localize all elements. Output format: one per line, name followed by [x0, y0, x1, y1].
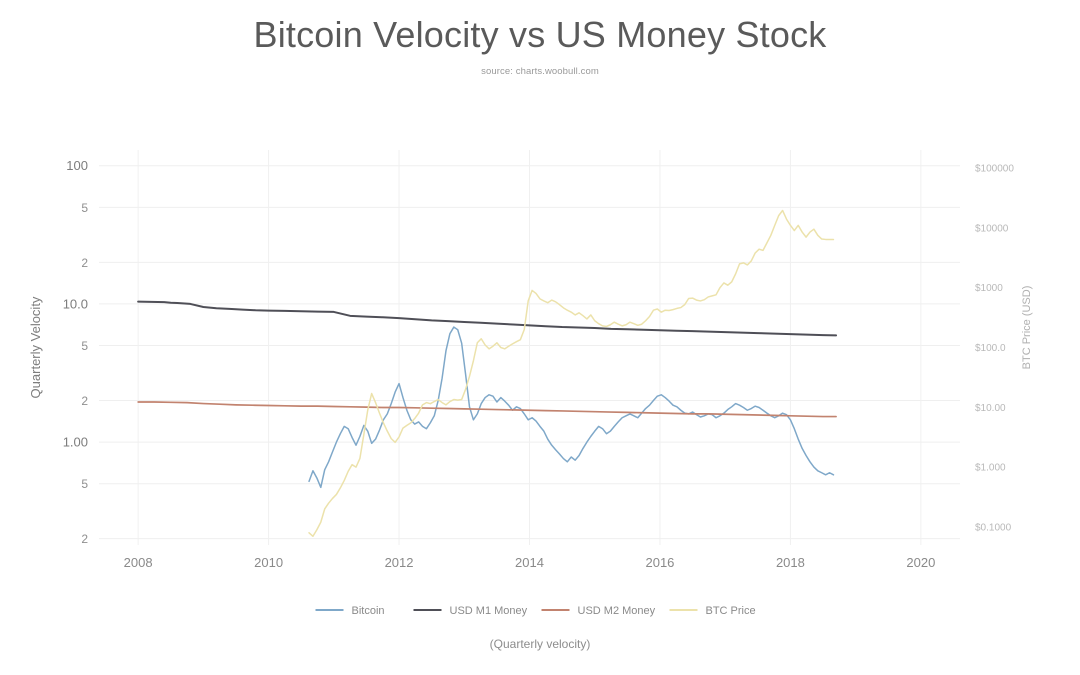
y-axis-tick-label: 5	[81, 339, 88, 353]
y-axis-tick-label: 10.0	[63, 296, 88, 311]
y-axis-title: Quarterly Velocity	[28, 296, 43, 398]
y-axis-tick-label: 2	[81, 532, 88, 546]
series-line-usd-m1-money	[138, 302, 836, 336]
legend-label: Bitcoin	[352, 605, 385, 617]
y2-axis-tick-label: $10.00	[975, 403, 1006, 414]
legend-label: BTC Price	[706, 605, 756, 617]
series-line-btc-price	[309, 210, 833, 536]
chart-plot-area: 1005210.0521.0052 $100000$10000$1000$100…	[0, 0, 1080, 675]
x-axis-tick-label: 2018	[776, 555, 805, 570]
x-axis-tick-label: 2012	[385, 555, 414, 570]
y-axis-tick-label: 5	[81, 201, 88, 215]
chart-caption: (Quarterly velocity)	[0, 637, 1080, 651]
y2-axis-tick-label: $1000	[975, 283, 1003, 294]
y2-axis-tick-label: $10000	[975, 223, 1009, 234]
legend-label: USD M1 Money	[450, 605, 528, 617]
x-axis-ticks-group: 2008201020122014201620182020	[124, 555, 936, 570]
x-axis-tick-label: 2010	[254, 555, 283, 570]
legend-label: USD M2 Money	[578, 605, 656, 617]
gridlines-group	[99, 150, 960, 545]
x-axis-tick-label: 2016	[645, 555, 674, 570]
chart-container: Bitcoin Velocity vs US Money Stock sourc…	[0, 0, 1080, 675]
series-line-usd-m2-money	[138, 402, 836, 417]
x-axis-tick-label: 2020	[906, 555, 935, 570]
y-axis-tick-label: 100	[66, 158, 88, 173]
y2-axis-ticks-group: $100000$10000$1000$100.0$10.00$1.000$0.1…	[975, 164, 1014, 534]
y2-axis-tick-label: $100.0	[975, 343, 1006, 354]
y2-axis-title: BTC Price (USD)	[1021, 286, 1033, 370]
chart-legend[interactable]: BitcoinUSD M1 MoneyUSD M2 MoneyBTC Price	[316, 605, 756, 617]
y-axis-tick-label: 1.00	[63, 435, 88, 450]
legend-item-btc-price[interactable]: BTC Price	[670, 605, 756, 617]
series-group	[138, 210, 836, 536]
y-axis-tick-label: 2	[81, 394, 88, 408]
x-axis-tick-label: 2008	[124, 555, 153, 570]
y2-axis-tick-label: $0.1000	[975, 522, 1012, 533]
y-axis-tick-label: 2	[81, 256, 88, 270]
y-axis-ticks-group: 1005210.0521.0052	[63, 158, 89, 546]
y-axis-tick-label: 5	[81, 477, 88, 491]
y2-axis-tick-label: $100000	[975, 164, 1014, 175]
legend-item-bitcoin[interactable]: Bitcoin	[316, 605, 385, 617]
x-axis-tick-label: 2014	[515, 555, 544, 570]
legend-item-usd-m1-money[interactable]: USD M1 Money	[414, 605, 528, 617]
y2-axis-tick-label: $1.000	[975, 463, 1006, 474]
legend-item-usd-m2-money[interactable]: USD M2 Money	[542, 605, 656, 617]
